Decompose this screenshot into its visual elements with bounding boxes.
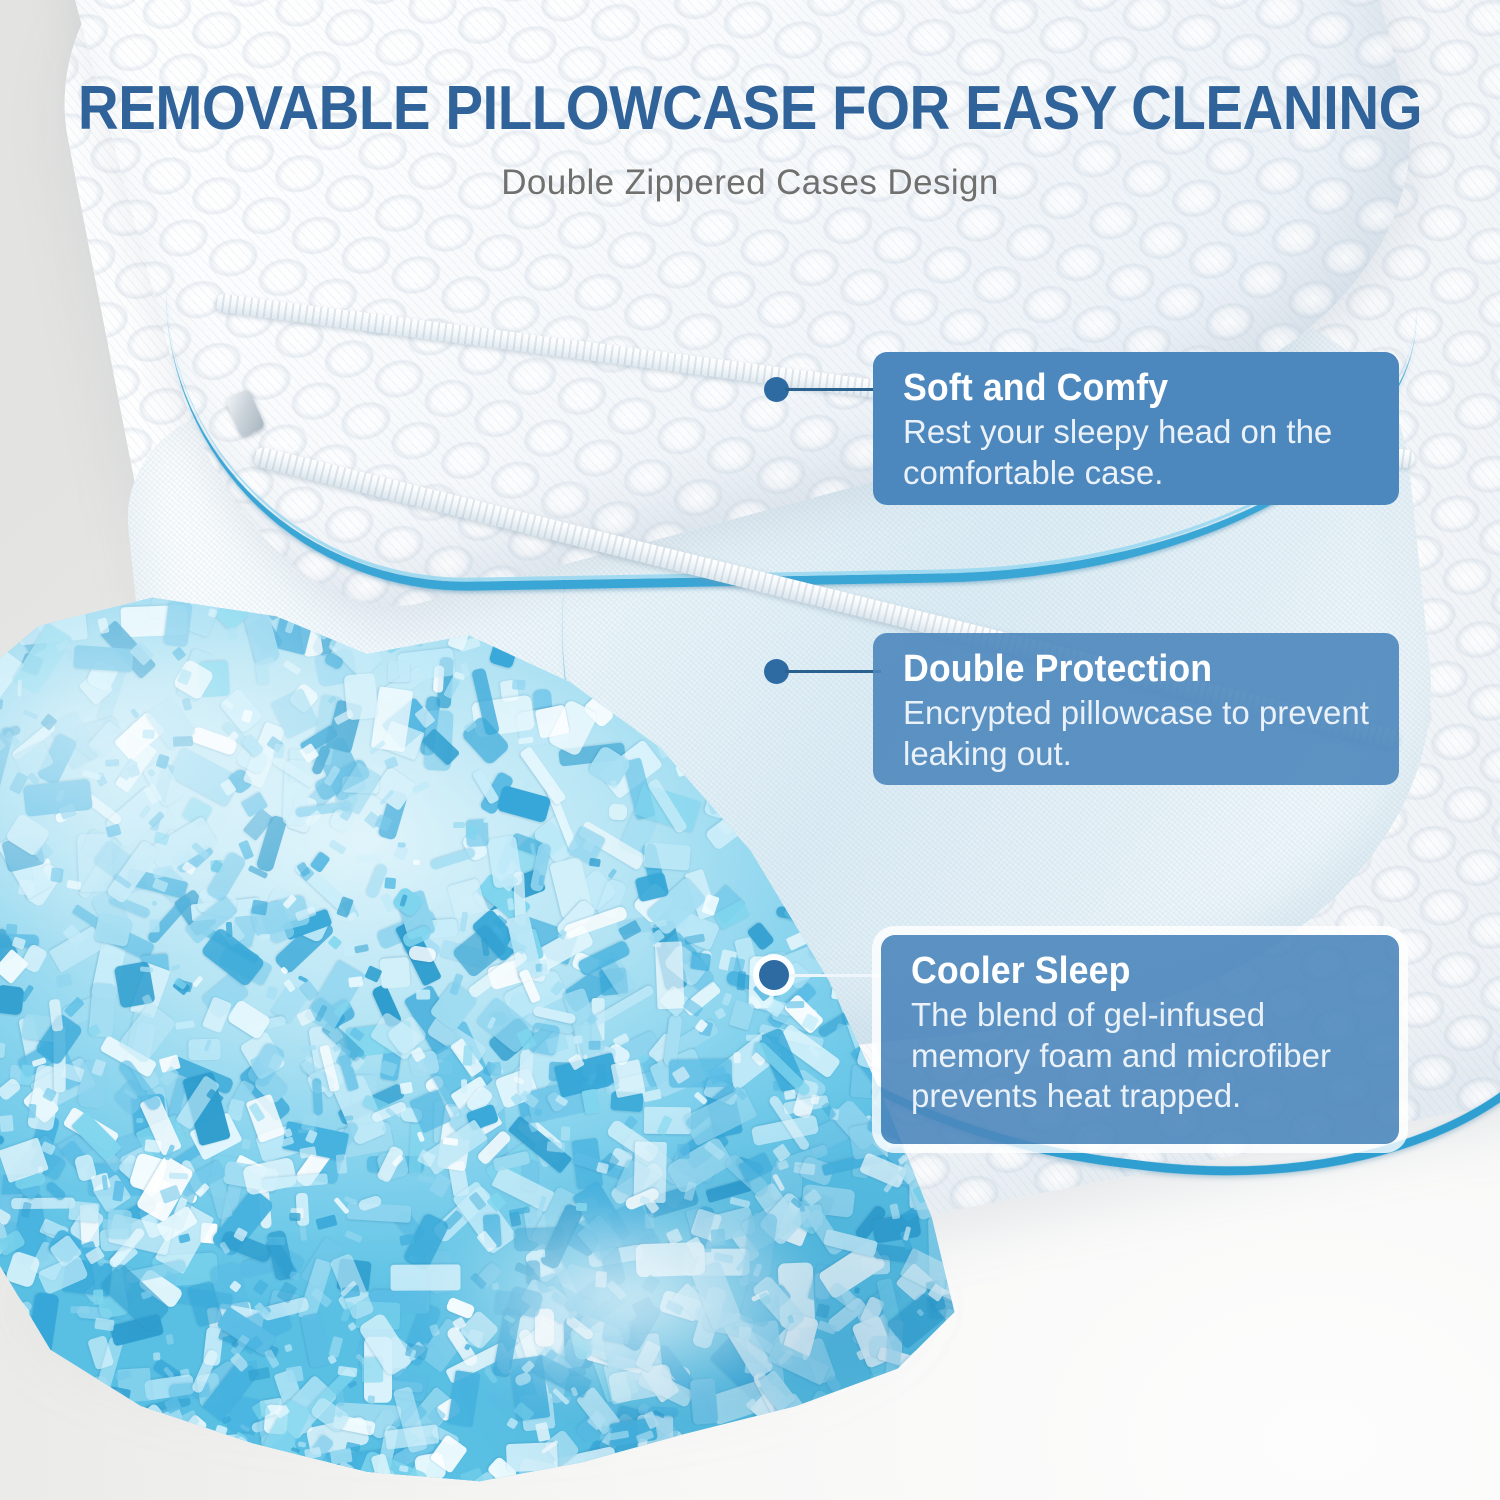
callout-body-soft-and-comfy: Rest your sleepy head on the comfortable… — [903, 412, 1369, 493]
callout-soft-and-comfy: Soft and Comfy Rest your sleepy head on … — [873, 352, 1399, 505]
callout-marker-cooler-sleep — [759, 960, 789, 990]
callout-leader-double-protection — [785, 670, 881, 673]
callout-title-double-protection: Double Protection — [903, 649, 1341, 689]
page-title: REMOVABLE PILLOWCASE FOR EASY CLEANING — [68, 78, 1433, 140]
callout-body-double-protection: Encrypted pillowcase to prevent leaking … — [903, 693, 1369, 774]
page-subtitle: Double Zippered Cases Design — [0, 163, 1500, 203]
callout-body-cooler-sleep: The blend of gel-infused memory foam and… — [911, 995, 1369, 1116]
callout-title-cooler-sleep: Cooler Sleep — [911, 951, 1342, 991]
callout-double-protection: Double Protection Encrypted pillowcase t… — [873, 633, 1399, 785]
foam-edge-haze — [420, 1210, 940, 1500]
callout-title-soft-and-comfy: Soft and Comfy — [903, 368, 1341, 408]
callout-leader-cooler-sleep — [789, 974, 884, 977]
product-infographic: REMOVABLE PILLOWCASE FOR EASY CLEANING D… — [0, 0, 1500, 1500]
callout-leader-soft-and-comfy — [785, 388, 881, 391]
callout-cooler-sleep: Cooler Sleep The blend of gel-infused me… — [881, 935, 1399, 1144]
